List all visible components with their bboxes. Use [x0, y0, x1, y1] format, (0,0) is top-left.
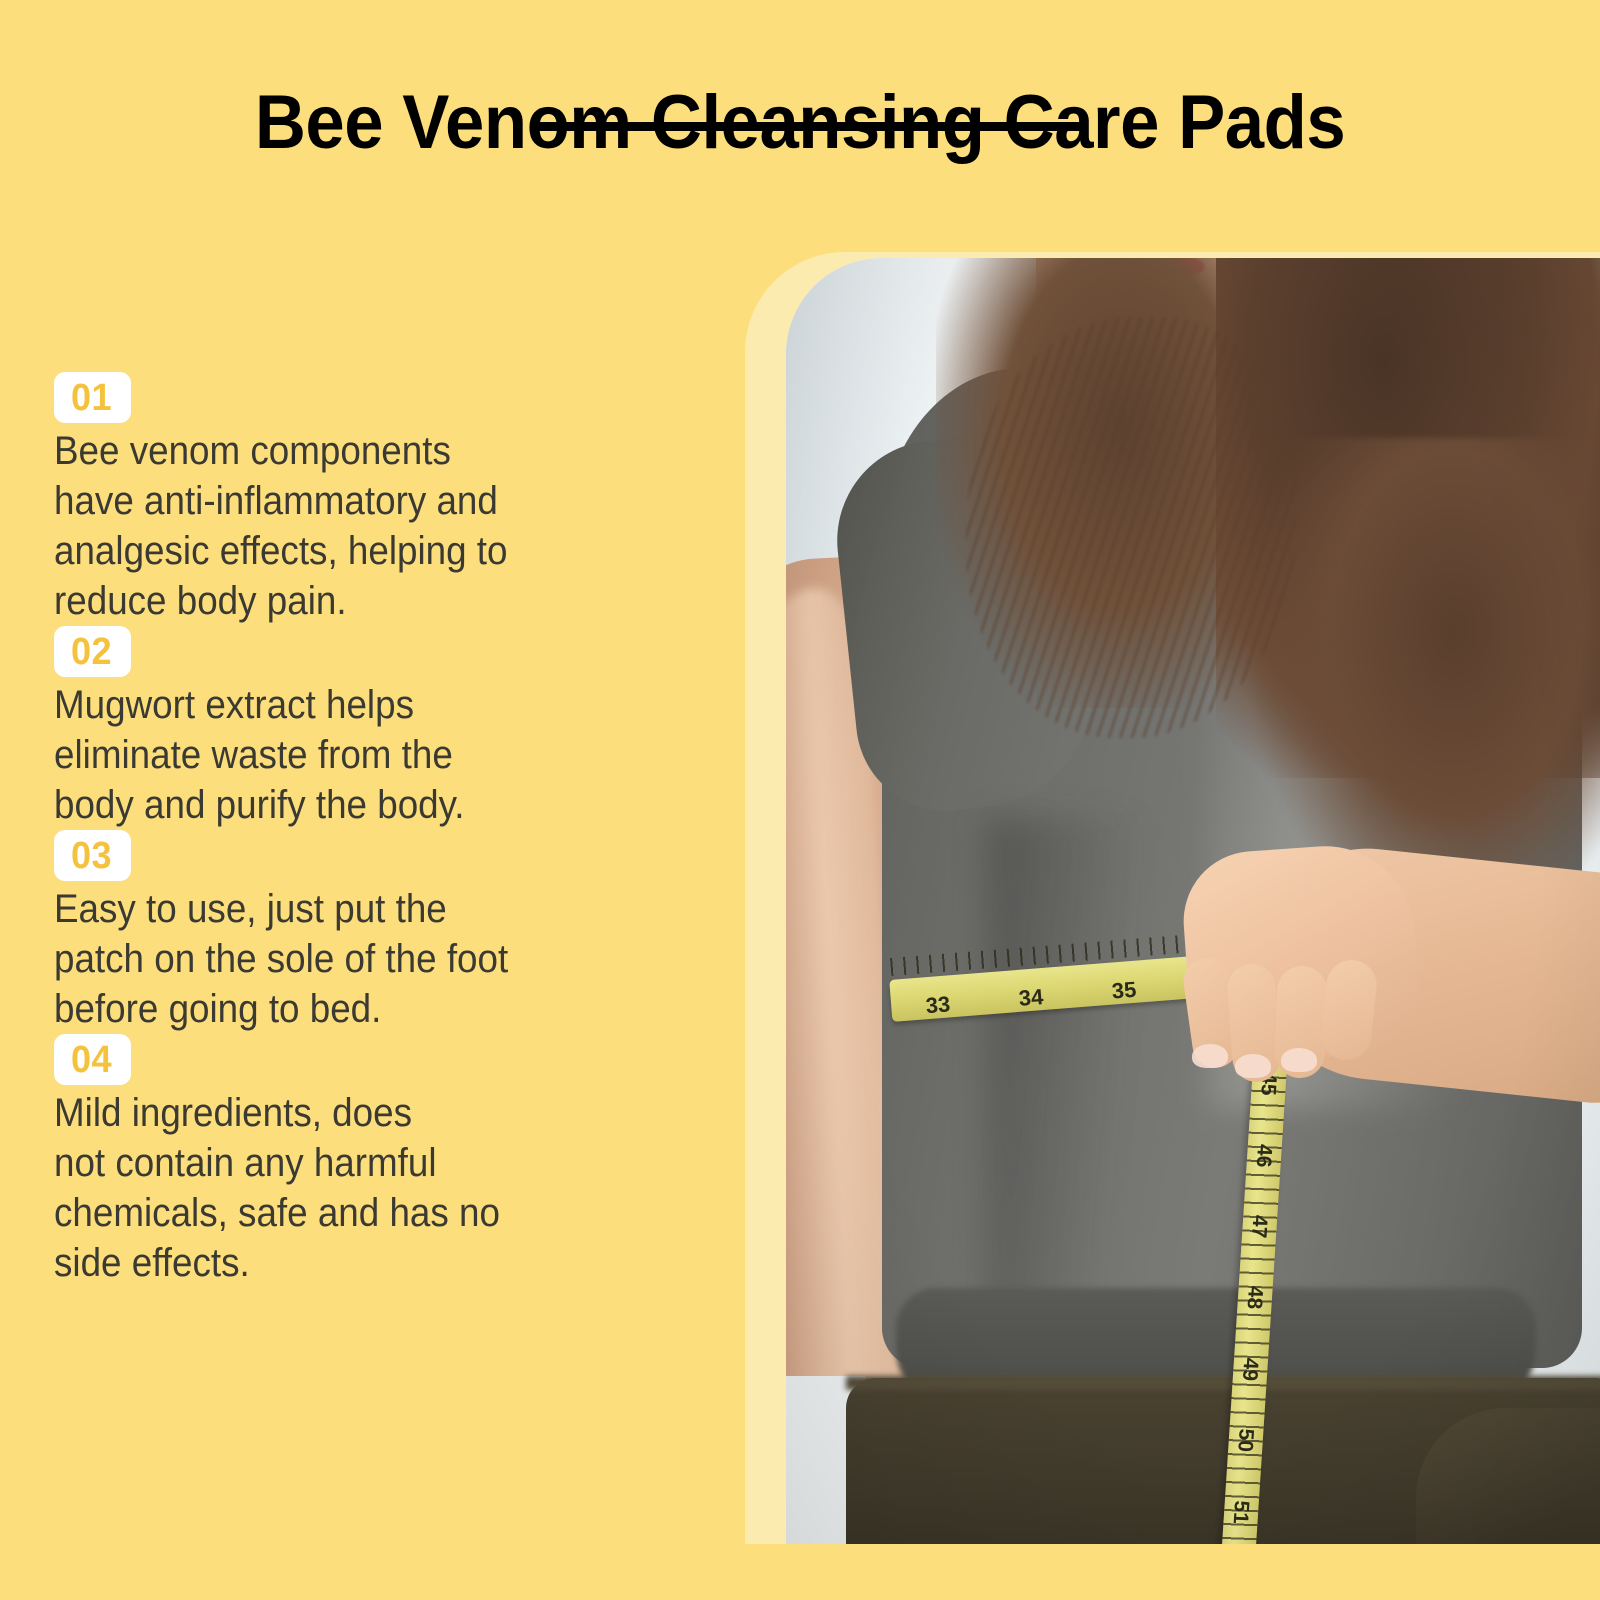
- pants-waistband: [846, 1376, 1600, 1390]
- tape-mark: 33: [925, 993, 951, 1017]
- feature-badge-number: 02: [71, 631, 112, 673]
- tape-mark: 49: [1239, 1357, 1261, 1381]
- feature-badge-number: 01: [71, 377, 112, 419]
- tape-mark: 35: [1111, 979, 1137, 1003]
- tshirt-fold-shadow: [986, 818, 1166, 1338]
- feature-item-01: 01 Bee venom components have anti-inflam…: [54, 372, 714, 626]
- product-photo: 33 34 35 36 37 38 45 46 47 48 49 50 51: [786, 258, 1600, 1544]
- feature-text-04: Mild ingredients, does not contain any h…: [54, 1088, 661, 1288]
- feature-badge-02: 02: [54, 626, 131, 677]
- fingernail: [1192, 1044, 1228, 1068]
- feature-list: 01 Bee venom components have anti-inflam…: [54, 372, 714, 1288]
- feature-badge-04: 04: [54, 1034, 131, 1085]
- feature-text-01: Bee venom components have anti-inflammat…: [54, 426, 661, 626]
- hair-strands: [966, 318, 1296, 738]
- tape-mark: 50: [1235, 1429, 1257, 1453]
- tape-mark: 51: [1230, 1500, 1252, 1524]
- tape-mark: 47: [1248, 1215, 1270, 1239]
- feature-text-03: Easy to use, just put the patch on the s…: [54, 884, 661, 1034]
- fingernail: [1235, 1054, 1271, 1078]
- tape-mark: 46: [1253, 1143, 1275, 1167]
- feature-item-04: 04 Mild ingredients, does not contain an…: [54, 1034, 714, 1288]
- feature-text-02: Mugwort extract helps eliminate waste fr…: [54, 680, 661, 830]
- feature-item-02: 02 Mugwort extract helps eliminate waste…: [54, 626, 714, 830]
- tape-mark: 48: [1244, 1286, 1266, 1310]
- tape-mark: 34: [1018, 986, 1044, 1010]
- title-underline-rule: [535, 122, 1080, 131]
- fingernail: [1281, 1048, 1317, 1072]
- feature-badge-number: 03: [71, 835, 112, 877]
- promo-banner: Bee Venom Cleansing Care Pads 01 Bee ven…: [0, 0, 1600, 1600]
- feature-badge-03: 03: [54, 830, 131, 881]
- hair-right-lower: [1256, 438, 1600, 918]
- feature-item-03: 03 Easy to use, just put the patch on th…: [54, 830, 714, 1034]
- feature-badge-01: 01: [54, 372, 131, 423]
- feature-badge-number: 04: [71, 1039, 112, 1081]
